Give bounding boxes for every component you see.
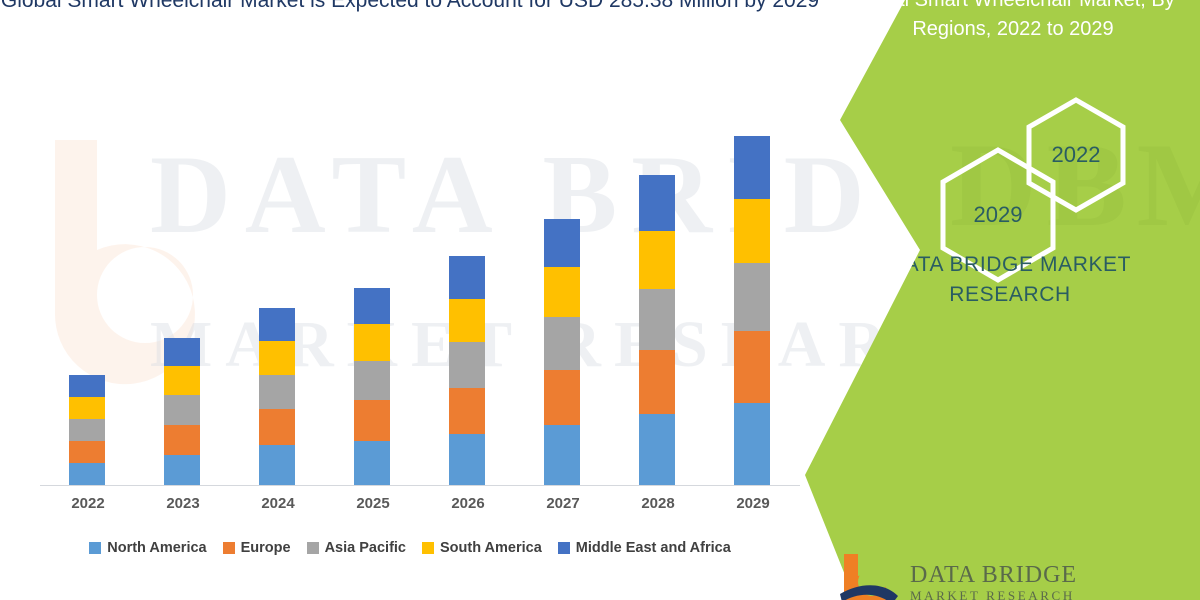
bar-segment[interactable] xyxy=(164,425,200,455)
bar-segment[interactable] xyxy=(734,263,770,332)
bar-segment[interactable] xyxy=(164,338,200,366)
plot-area xyxy=(40,90,800,486)
legend-swatch-icon xyxy=(307,542,319,554)
legend-item[interactable]: Europe xyxy=(223,540,291,556)
bar-segment[interactable] xyxy=(259,409,295,445)
legend-item[interactable]: South America xyxy=(422,540,542,556)
chart-legend: North AmericaEuropeAsia PacificSouth Ame… xyxy=(0,540,820,556)
bar-segment[interactable] xyxy=(449,256,485,298)
bar-segment[interactable] xyxy=(259,445,295,486)
legend-swatch-icon xyxy=(558,542,570,554)
bar-segment[interactable] xyxy=(259,308,295,341)
bar-group-2025[interactable] xyxy=(354,288,390,486)
footer-logo-name: DATA BRIDGE xyxy=(910,562,1077,588)
bar-group-2022[interactable] xyxy=(69,375,105,486)
bar-segment[interactable] xyxy=(639,175,675,231)
x-axis-label-2027: 2027 xyxy=(528,495,598,512)
bar-segment[interactable] xyxy=(544,317,580,370)
bar-segment[interactable] xyxy=(259,341,295,375)
bar-segment[interactable] xyxy=(639,414,675,486)
legend-item[interactable]: Asia Pacific xyxy=(307,540,406,556)
bar-group-2027[interactable] xyxy=(544,219,580,486)
footer-logo: DATA BRIDGE MARKET RESEARCH xyxy=(838,552,1168,600)
x-axis-label-2023: 2023 xyxy=(148,495,218,512)
bar-group-2023[interactable] xyxy=(164,338,200,486)
legend-swatch-icon xyxy=(422,542,434,554)
bar-segment[interactable] xyxy=(354,361,390,400)
bar-segment[interactable] xyxy=(544,267,580,317)
bar-segment[interactable] xyxy=(449,299,485,343)
bar-segment[interactable] xyxy=(69,419,105,441)
bar-segment[interactable] xyxy=(69,463,105,486)
bar-segment[interactable] xyxy=(734,331,770,403)
x-axis-label-2024: 2024 xyxy=(243,495,313,512)
brand-name: DATA BRIDGE MARKET RESEARCH xyxy=(840,250,1180,310)
bar-segment[interactable] xyxy=(449,388,485,435)
brand-line1: DATA BRIDGE MARKET RESEARCH xyxy=(889,253,1131,306)
bar-group-2029[interactable] xyxy=(734,136,770,486)
x-axis-label-2022: 2022 xyxy=(53,495,123,512)
bar-segment[interactable] xyxy=(639,350,675,414)
bar-segment[interactable] xyxy=(734,403,770,486)
chart-title: Global Smart Wheelchair Market is Expect… xyxy=(0,0,820,16)
bar-group-2026[interactable] xyxy=(449,256,485,486)
bar-segment[interactable] xyxy=(354,441,390,486)
bar-segment[interactable] xyxy=(449,342,485,387)
legend-label: Europe xyxy=(241,540,291,556)
legend-swatch-icon xyxy=(89,542,101,554)
bar-segment[interactable] xyxy=(69,441,105,463)
legend-label: North America xyxy=(107,540,206,556)
x-axis-label-2025: 2025 xyxy=(338,495,408,512)
bar-segment[interactable] xyxy=(69,397,105,419)
legend-label: South America xyxy=(440,540,542,556)
bar-segment[interactable] xyxy=(164,395,200,425)
bar-segment[interactable] xyxy=(544,219,580,267)
x-axis-label-2028: 2028 xyxy=(623,495,693,512)
chart-panel: DATA BRIDGE MARKET RESEARCH Global Smart… xyxy=(0,0,880,600)
bar-segment[interactable] xyxy=(164,366,200,396)
footer-logo-sub: MARKET RESEARCH xyxy=(910,588,1077,600)
bar-group-2028[interactable] xyxy=(639,175,675,486)
bar-group-2024[interactable] xyxy=(259,308,295,486)
bar-segment[interactable] xyxy=(734,199,770,263)
legend-label: Middle East and Africa xyxy=(576,540,731,556)
x-axis-label-2026: 2026 xyxy=(433,495,503,512)
x-axis-line xyxy=(40,485,800,486)
bar-segment[interactable] xyxy=(69,375,105,397)
legend-item[interactable]: North America xyxy=(89,540,206,556)
bar-segment[interactable] xyxy=(164,455,200,486)
bar-segment[interactable] xyxy=(449,434,485,486)
x-axis-label-2029: 2029 xyxy=(718,495,788,512)
x-axis-labels: 20222023202420252026202720282029 xyxy=(40,495,800,523)
bar-segment[interactable] xyxy=(354,288,390,324)
bar-segment[interactable] xyxy=(639,289,675,350)
bar-segment[interactable] xyxy=(544,370,580,425)
bar-segment[interactable] xyxy=(259,375,295,409)
bar-segment[interactable] xyxy=(544,425,580,486)
legend-label: Asia Pacific xyxy=(325,540,406,556)
bar-segment[interactable] xyxy=(354,400,390,441)
bar-segment[interactable] xyxy=(354,324,390,362)
footer-logo-text: DATA BRIDGE MARKET RESEARCH xyxy=(910,552,1077,600)
bar-segment[interactable] xyxy=(734,136,770,199)
legend-item[interactable]: Middle East and Africa xyxy=(558,540,731,556)
bridge-b-logo-icon xyxy=(838,552,900,600)
bar-segment[interactable] xyxy=(639,231,675,289)
legend-swatch-icon xyxy=(223,542,235,554)
